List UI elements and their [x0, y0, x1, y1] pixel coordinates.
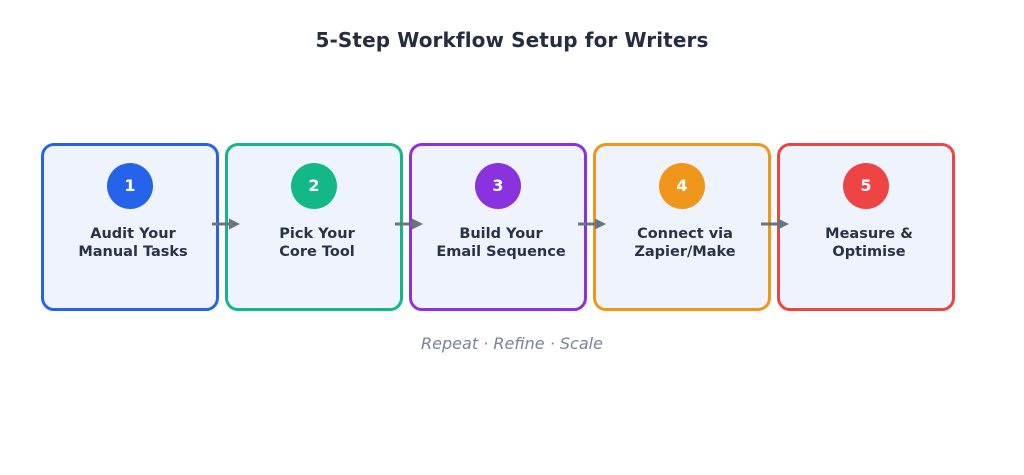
steps-row: 1 Audit Your Manual Tasks 2 Pick Your Co… — [41, 143, 955, 311]
step-label-4: Connect via Zapier/Make — [602, 225, 768, 261]
step-number-badge-5: 5 — [843, 163, 889, 209]
footer-caption: Repeat · Refine · Scale — [0, 334, 1024, 353]
workflow-diagram: 5-Step Workflow Setup for Writers 1 Audi… — [0, 0, 1024, 475]
step-card-3[interactable]: 3 Build Your Email Sequence — [409, 143, 587, 311]
step-label-5: Measure & Optimise — [786, 225, 952, 261]
step-label-3: Build Your Email Sequence — [418, 225, 584, 261]
step-number-badge-3: 3 — [475, 163, 521, 209]
step-card-5[interactable]: 5 Measure & Optimise — [777, 143, 955, 311]
page-title: 5-Step Workflow Setup for Writers — [0, 28, 1024, 52]
step-card-1[interactable]: 1 Audit Your Manual Tasks — [41, 143, 219, 311]
step-number-badge-2: 2 — [291, 163, 337, 209]
step-label-2: Pick Your Core Tool — [234, 225, 400, 261]
step-number-badge-4: 4 — [659, 163, 705, 209]
step-card-2[interactable]: 2 Pick Your Core Tool — [225, 143, 403, 311]
step-number-badge-1: 1 — [107, 163, 153, 209]
step-card-4[interactable]: 4 Connect via Zapier/Make — [593, 143, 771, 311]
step-label-1: Audit Your Manual Tasks — [50, 225, 216, 261]
